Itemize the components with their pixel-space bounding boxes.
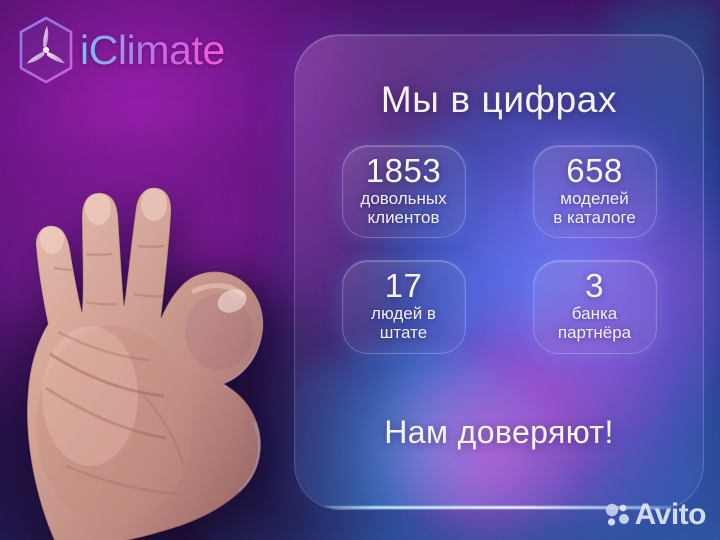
stat-label: довольных клиентов <box>360 189 446 228</box>
stat-label-line2: штате <box>371 323 436 342</box>
hexagon-turbine-icon <box>14 14 78 86</box>
card-footer-text: Нам доверяют! <box>384 414 614 451</box>
stat-number: 17 <box>385 269 423 303</box>
stat-label-line2: в каталоге <box>553 208 636 227</box>
stat-label-line2: клиентов <box>360 208 446 227</box>
stat-label-line2: партнёра <box>558 323 631 342</box>
stat-label: банка партнёра <box>558 304 631 343</box>
stat-label-line1: довольных <box>360 189 446 208</box>
brand-logo: iClimate <box>14 14 231 86</box>
stat-tile-staff[interactable]: 17 людей в штате <box>342 260 466 353</box>
promo-image-canvas: iClimate <box>0 0 720 540</box>
card-title: Мы в цифрах <box>381 79 617 121</box>
stat-tile-models[interactable]: 658 моделей в каталоге <box>533 145 657 238</box>
stat-tile-banks[interactable]: 3 банка партнёра <box>533 260 657 353</box>
stat-number: 1853 <box>366 154 441 188</box>
stats-grid: 1853 довольных клиентов 658 моделей в ка… <box>319 145 679 354</box>
stat-number: 3 <box>585 269 604 303</box>
stat-label-line1: банка <box>558 304 631 323</box>
avito-dots-icon <box>604 502 630 528</box>
avito-watermark: Avito <box>604 500 706 530</box>
stat-label-line1: людей в <box>371 304 436 323</box>
stat-label-line1: моделей <box>553 189 636 208</box>
stat-tile-clients[interactable]: 1853 довольных клиентов <box>342 145 466 238</box>
brand-name: iClimate <box>80 30 231 71</box>
stat-number: 658 <box>566 154 623 188</box>
ok-hand-gesture-image <box>0 96 324 540</box>
stat-label: моделей в каталоге <box>553 189 636 228</box>
stats-glass-card: Мы в цифрах 1853 довольных клиентов 658 … <box>294 34 704 510</box>
card-content: Мы в цифрах 1853 довольных клиентов 658 … <box>295 35 703 509</box>
stat-label: людей в штате <box>371 304 436 343</box>
avito-wordmark: Avito <box>635 500 706 530</box>
